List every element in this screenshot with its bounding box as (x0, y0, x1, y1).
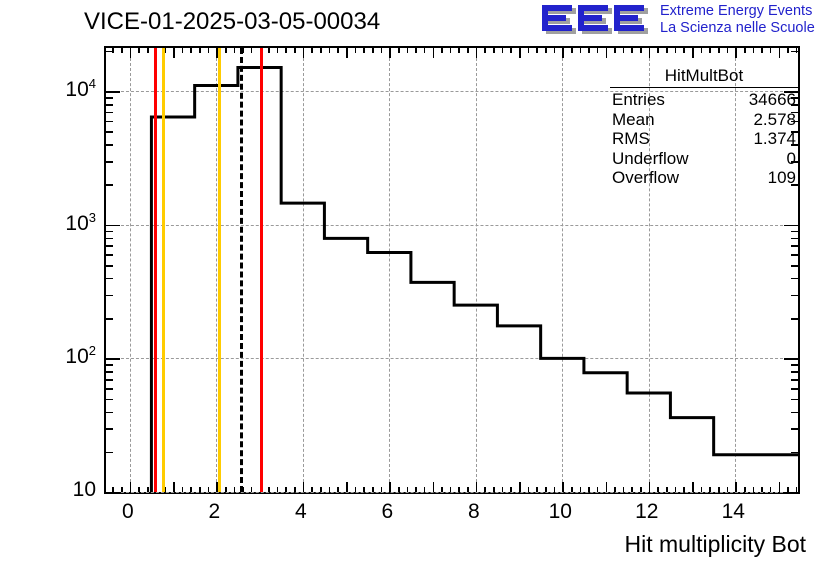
stats-key: Entries (612, 90, 665, 110)
axis-tick (106, 492, 120, 494)
eee-logo: Extreme Energy Events La Scienza nelle S… (538, 2, 834, 42)
x-axis-tick-label: 4 (295, 500, 307, 524)
mean-dashed-line (240, 48, 243, 492)
y-axis-labels: 10102103104 (18, 46, 96, 494)
stats-row: Mean2.578 (606, 110, 802, 130)
stats-row: Underflow0 (606, 149, 802, 169)
y-axis-tick-label: 102 (65, 343, 96, 369)
eee-logo-line1: Extreme Energy Events (660, 3, 815, 20)
stats-row: Overflow109 (606, 168, 802, 188)
x-axis-tick-label: 8 (468, 500, 480, 524)
stats-value: 1.374 (753, 129, 796, 149)
stats-key: Underflow (612, 149, 689, 169)
stats-key: Overflow (612, 168, 679, 188)
y-axis-tick-label: 103 (65, 210, 96, 236)
stats-row: Entries34666 (606, 90, 802, 110)
y-axis-tick-label: 104 (65, 76, 96, 102)
stats-value: 109 (768, 168, 796, 188)
threshold-low-orange-line (162, 48, 165, 492)
x-axis-tick-label: 12 (635, 500, 658, 524)
x-axis-tick-label: 6 (381, 500, 393, 524)
eee-logo-text: Extreme Energy Events La Scienza nelle S… (660, 3, 815, 37)
root-canvas: VICE-01-2025-03-05-00034 (0, 0, 836, 572)
threshold-high-orange-line (218, 48, 221, 492)
x-axis-tick-label: 10 (549, 500, 572, 524)
eee-logo-line2: La Scienza nelle Scuole (660, 20, 815, 37)
gridline-horizontal (106, 492, 798, 493)
x-axis-tick-label: 2 (208, 500, 220, 524)
stats-key: RMS (612, 129, 650, 149)
x-axis-tick-label: 0 (122, 500, 134, 524)
stats-value: 2.578 (753, 110, 796, 130)
stats-value: 0 (787, 149, 796, 169)
threshold-high-red-line (260, 48, 263, 492)
axis-tick (784, 492, 798, 494)
y-axis-tick-label: 10 (73, 478, 96, 502)
stats-row: RMS1.374 (606, 129, 802, 149)
stats-key: Mean (612, 110, 655, 130)
x-axis-labels: 02468101214 (104, 500, 800, 530)
x-axis-title: Hit multiplicity Bot (625, 531, 806, 558)
eee-mark-icon (538, 2, 658, 40)
stats-rows: Entries34666Mean2.578RMS1.374Underflow0O… (606, 90, 802, 188)
stats-box: HitMultBot Entries34666Mean2.578RMS1.374… (606, 66, 802, 188)
x-axis-tick-label: 14 (722, 500, 745, 524)
stats-histogram-name: HitMultBot (610, 66, 798, 88)
page-title: VICE-01-2025-03-05-00034 (84, 8, 380, 36)
threshold-low-red-line (154, 48, 157, 492)
stats-value: 34666 (749, 90, 796, 110)
